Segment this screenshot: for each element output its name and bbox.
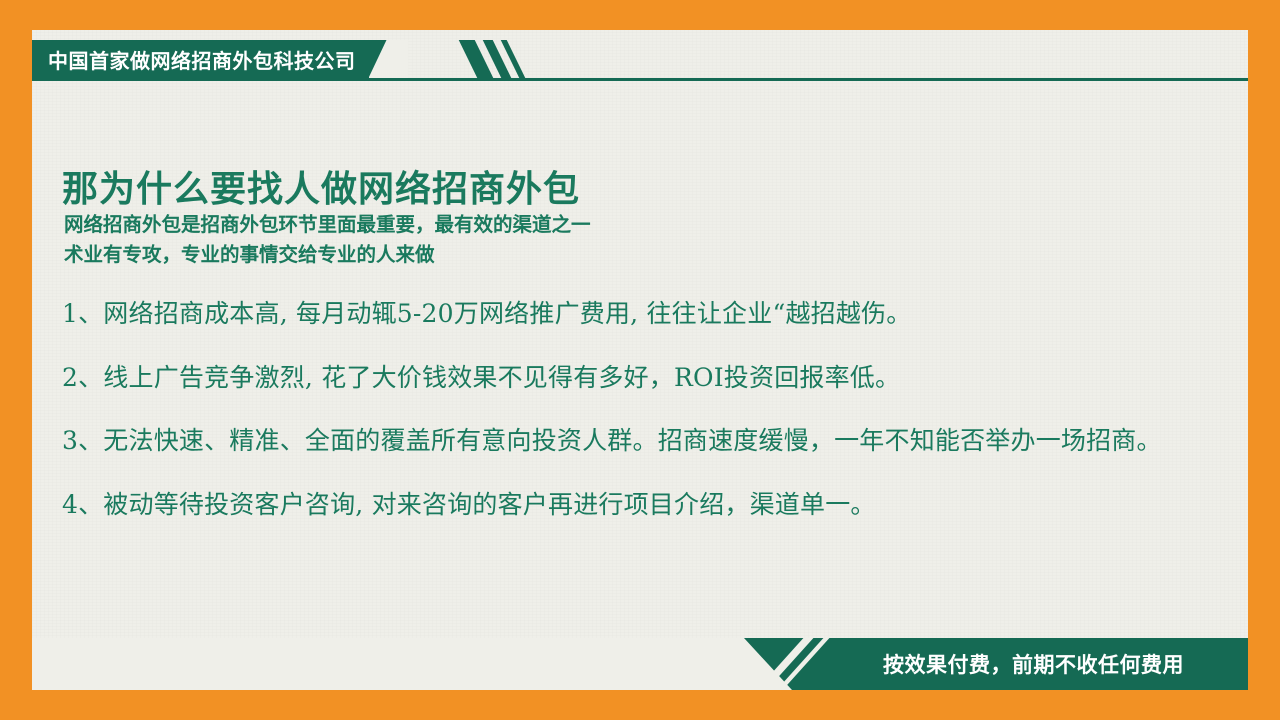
body-point-4: 4、被动等待投资客户咨询, 对来咨询的客户再进行项目介绍，渠道单一。 [62,487,1192,523]
header-banner-chevrons [466,40,528,78]
slide-root: 中国首家做网络招商外包科技公司 那为什么要找人做网络招商外包 网络招商外包是招商… [0,0,1280,720]
subtitle-line-1: 网络招商外包是招商外包环节里面最重要，最有效的渠道之一 [64,210,591,240]
footer-bar-notch [32,638,792,690]
header-banner-label: 中国首家做网络招商外包科技公司 [48,45,356,74]
body-point-1: 1、网络招商成本高, 每月动辄5-20万网络推广费用, 往往让企业“越招越伤。 [62,296,1192,332]
body-points-list: 1、网络招商成本高, 每月动辄5-20万网络推广费用, 往往让企业“越招越伤。 … [62,296,1192,522]
body-point-3: 3、无法快速、精准、全面的覆盖所有意向投资人群。招商速度缓慢，一年不知能否举办一… [62,423,1192,459]
subtitle-line-2: 术业有专攻，专业的事情交给专业的人来做 [64,240,591,270]
subtitle-block: 网络招商外包是招商外包环节里面最重要，最有效的渠道之一 术业有专攻，专业的事情交… [64,210,591,270]
header-divider-rule [32,78,1248,81]
header-banner-notch [369,40,409,78]
header-banner: 中国首家做网络招商外包科技公司 [32,40,408,78]
footer-bar-chevrons [774,638,834,690]
footer-tagline: 按效果付费，前期不收任何费用 [883,649,1184,679]
body-point-2: 2、线上广告竞争激烈, 花了大价钱效果不见得有多好，ROI投资回报率低。 [62,360,1192,396]
page-title: 那为什么要找人做网络招商外包 [62,160,580,212]
footer-bar: 按效果付费，前期不收任何费用 [32,638,1248,690]
